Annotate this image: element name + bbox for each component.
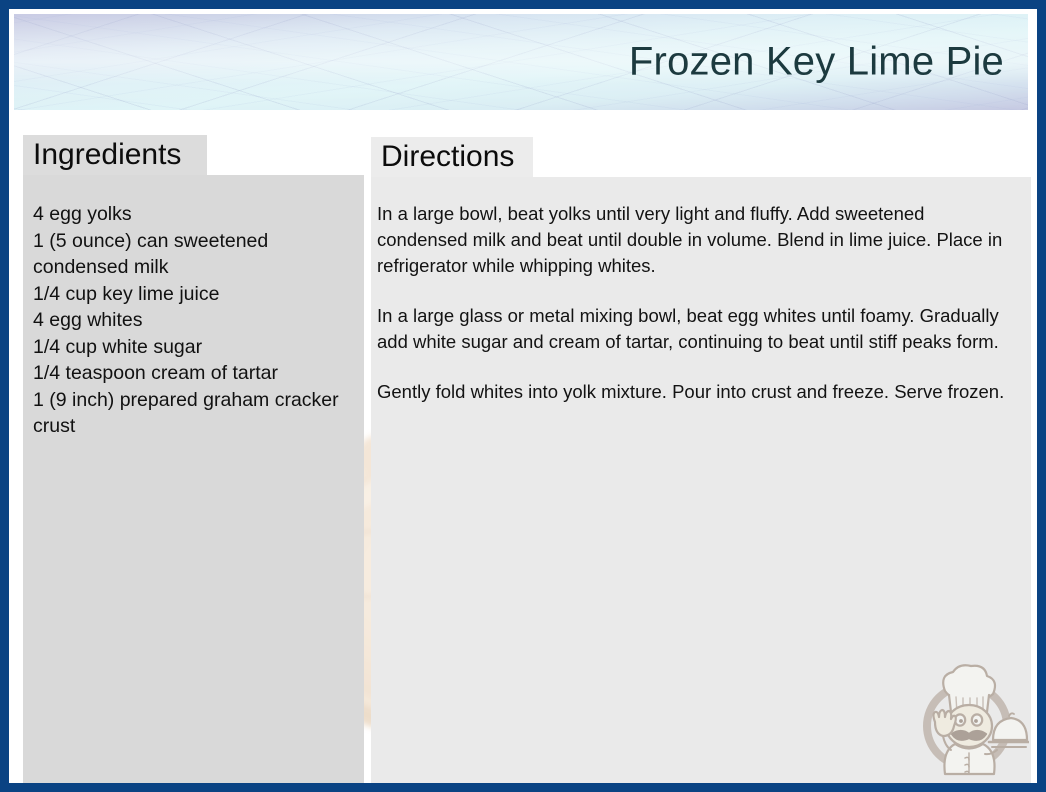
ingredients-heading-label: Ingredients [33,140,181,170]
ingredients-panel: 4 egg yolks 1 (5 ounce) can sweetened co… [23,175,364,792]
list-item: 1 (9 inch) prepared graham cracker crust [33,387,348,440]
directions-panel: In a large bowl, beat yolks until very l… [371,177,1031,792]
list-item: 1/4 cup key lime juice [33,281,348,308]
list-item: 1 (5 ounce) can sweetened condensed milk [33,228,348,281]
ingredients-list: 4 egg yolks 1 (5 ounce) can sweetened co… [33,201,348,440]
list-item: 4 egg yolks [33,201,348,228]
direction-step: In a large bowl, beat yolks until very l… [377,201,1013,279]
directions-heading-label: Directions [381,142,514,172]
list-item: 4 egg whites [33,307,348,334]
header-banner: Frozen Key Lime Pie [14,14,1028,110]
direction-step: Gently fold whites into yolk mixture. Po… [377,379,1013,405]
list-item: 1/4 cup white sugar [33,334,348,361]
directions-heading-tab: Directions [371,137,533,177]
ingredients-heading-tab: Ingredients [23,135,207,175]
directions-text: In a large bowl, beat yolks until very l… [377,201,1013,405]
list-item: 1/4 teaspoon cream of tartar [33,360,348,387]
recipe-card: Frozen Key Lime Pie [0,0,1046,792]
direction-step: In a large glass or metal mixing bowl, b… [377,303,1013,355]
page-title: Frozen Key Lime Pie [629,40,1004,85]
